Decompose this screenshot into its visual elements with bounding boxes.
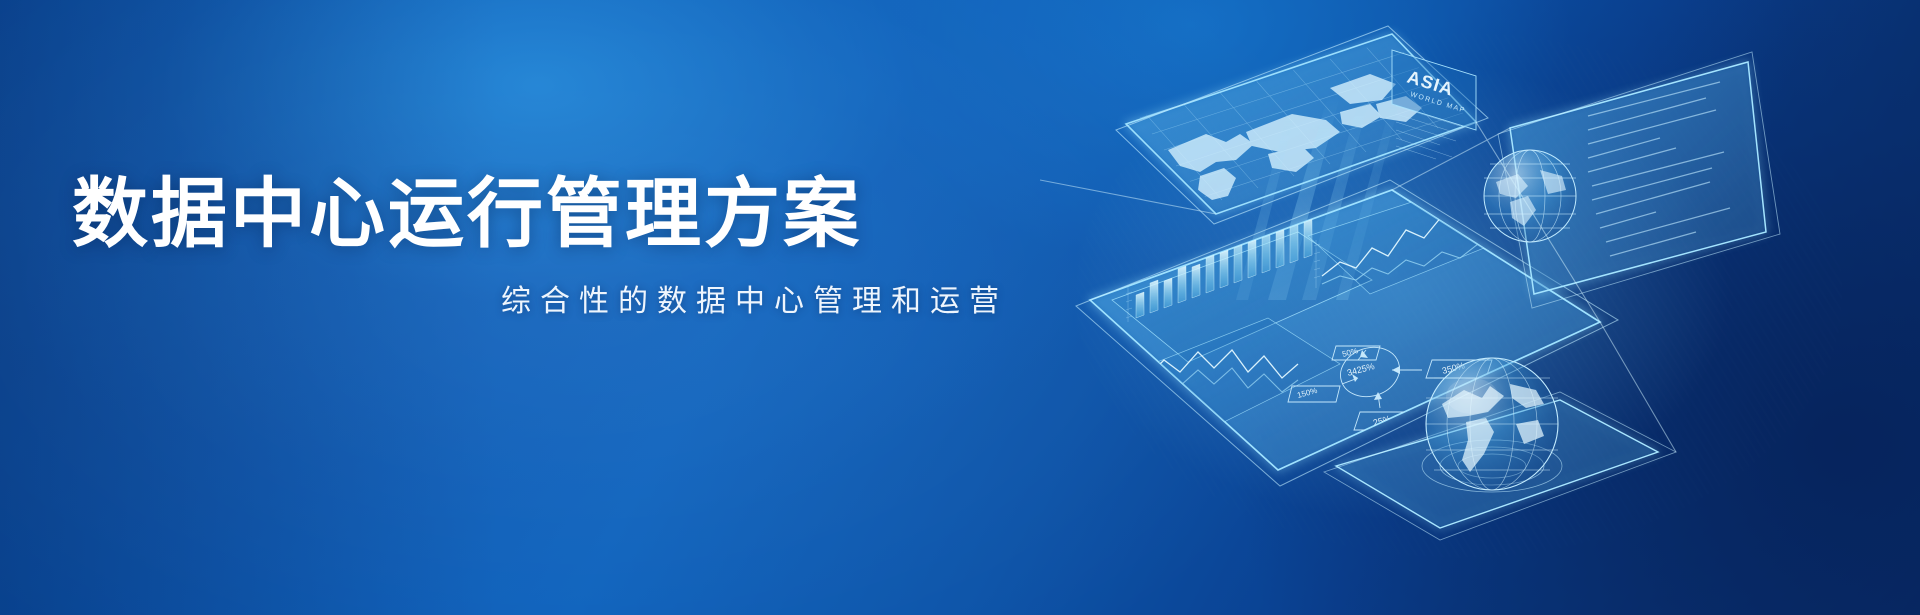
hero-text-block: 数据中心运行管理方案 综合性的数据中心管理和运营 bbox=[72, 176, 1022, 320]
page-title: 数据中心运行管理方案 bbox=[72, 176, 1022, 254]
hud-graphic-stage: ASIA WORLD MAP bbox=[1040, 0, 1920, 615]
hero-banner: ASIA WORLD MAP bbox=[0, 0, 1920, 615]
page-subtitle: 综合性的数据中心管理和运营 bbox=[72, 276, 1022, 320]
globe-wireframe-icon bbox=[1484, 150, 1576, 242]
